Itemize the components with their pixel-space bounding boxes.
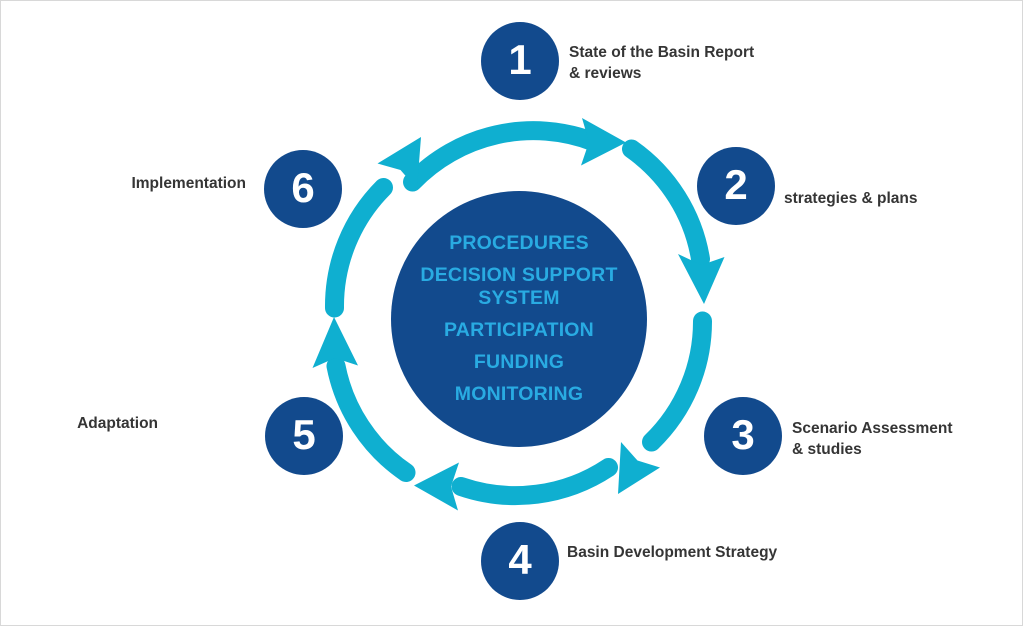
hub-line-procedures: PROCEDURES bbox=[449, 228, 589, 260]
step-node-6[interactable]: 6 bbox=[264, 150, 342, 228]
step-node-4-number: 4 bbox=[508, 539, 531, 581]
cycle-diagram: PROCEDURES DECISION SUPPORT SYSTEM PARTI… bbox=[0, 0, 1023, 626]
step-node-6-number: 6 bbox=[291, 167, 314, 209]
step-node-2-number: 2 bbox=[724, 164, 747, 206]
ring-arrow-segment-4 bbox=[414, 463, 609, 511]
hub-line-participation: PARTICIPATION bbox=[444, 315, 594, 347]
step-node-4[interactable]: 4 bbox=[481, 522, 559, 600]
hub-line-funding: FUNDING bbox=[474, 347, 564, 379]
hub-circle: PROCEDURES DECISION SUPPORT SYSTEM PARTI… bbox=[391, 191, 647, 447]
step-node-2[interactable]: 2 bbox=[697, 147, 775, 225]
step-label-6: Implementation bbox=[1, 174, 246, 195]
step-node-3[interactable]: 3 bbox=[704, 397, 782, 475]
step-node-1-number: 1 bbox=[508, 39, 531, 81]
step-node-5-number: 5 bbox=[292, 414, 315, 456]
step-label-1: State of the Basin Report & reviews bbox=[569, 43, 869, 85]
hub-line-monitoring: MONITORING bbox=[455, 379, 583, 411]
ring-arrow-segment-1 bbox=[413, 118, 627, 182]
step-label-5: Adaptation bbox=[1, 414, 158, 435]
step-label-3: Scenario Assessment & studies bbox=[792, 419, 1022, 461]
hub-line-decision-support-system: DECISION SUPPORT SYSTEM bbox=[420, 260, 617, 315]
step-label-2: strategies & plans bbox=[784, 189, 1014, 210]
step-node-5[interactable]: 5 bbox=[265, 397, 343, 475]
step-node-3-number: 3 bbox=[731, 414, 754, 456]
step-node-1[interactable]: 1 bbox=[481, 22, 559, 100]
step-label-4: Basin Development Strategy bbox=[567, 543, 867, 564]
